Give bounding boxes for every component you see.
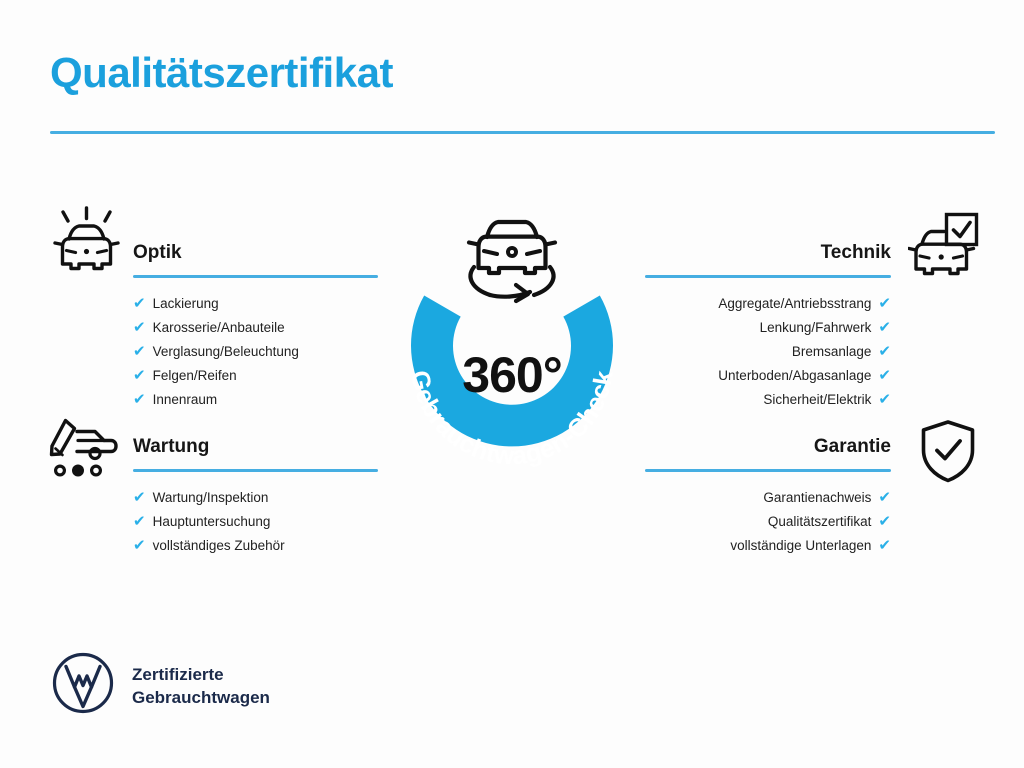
checklist-wartung: ✔ Wartung/Inspektion ✔ Hauptuntersuchung… bbox=[133, 486, 378, 558]
list-item: vollständige Unterlagen ✔ bbox=[645, 534, 891, 558]
list-item-label: Innenraum bbox=[153, 388, 218, 412]
section-garantie: Garantie Garantienachweis ✔ Qualitätszer… bbox=[645, 434, 891, 558]
check-icon: ✔ bbox=[133, 534, 146, 558]
list-item-label: Unterboden/Abgasanlage bbox=[718, 364, 871, 388]
title-divider bbox=[50, 131, 995, 134]
check-icon: ✔ bbox=[133, 388, 146, 412]
check-icon: ✔ bbox=[133, 510, 146, 534]
checklist-technik: Aggregate/Antriebsstrang ✔ Lenkung/Fahrw… bbox=[645, 292, 891, 412]
list-item: ✔ Innenraum bbox=[133, 388, 378, 412]
section-optik: Optik ✔ Lackierung ✔ Karosserie/Anbautei… bbox=[133, 240, 378, 412]
check-icon: ✔ bbox=[878, 486, 891, 510]
list-item: Garantienachweis ✔ bbox=[645, 486, 891, 510]
section-header: Technik bbox=[645, 240, 891, 278]
list-item-label: Wartung/Inspektion bbox=[153, 486, 269, 510]
car-front-shine-icon bbox=[50, 205, 124, 282]
pen-car-service-icon bbox=[48, 415, 122, 486]
list-item-label: vollständige Unterlagen bbox=[730, 534, 871, 558]
list-item-label: Lenkung/Fahrwerk bbox=[760, 316, 872, 340]
section-title-garantie: Garantie bbox=[645, 434, 891, 460]
list-item: ✔ Lackierung bbox=[133, 292, 378, 316]
list-item-label: Lackierung bbox=[153, 292, 219, 316]
check-icon: ✔ bbox=[878, 292, 891, 316]
list-item-label: Verglasung/Beleuchtung bbox=[153, 340, 299, 364]
footer-line-2: Gebrauchtwagen bbox=[132, 686, 270, 709]
volkswagen-logo bbox=[52, 652, 114, 719]
certificate-page: Qualitätszertifikat Optik bbox=[0, 0, 1024, 768]
car-front-checkbox-icon bbox=[908, 211, 980, 284]
badge-360-gebrauchtwagen-check: Gebrauchtwagen-Check 360° bbox=[378, 205, 646, 485]
check-icon: ✔ bbox=[133, 340, 146, 364]
list-item-label: Hauptuntersuchung bbox=[153, 510, 271, 534]
check-icon: ✔ bbox=[878, 388, 891, 412]
section-divider bbox=[645, 469, 891, 472]
check-icon: ✔ bbox=[878, 340, 891, 364]
check-icon: ✔ bbox=[878, 364, 891, 388]
car-rotate-icon bbox=[469, 222, 555, 301]
section-header: Garantie bbox=[645, 434, 891, 472]
footer-text: Zertifizierte Gebrauchtwagen bbox=[132, 663, 270, 709]
list-item: Aggregate/Antriebsstrang ✔ bbox=[645, 292, 891, 316]
check-icon: ✔ bbox=[878, 534, 891, 558]
list-item-label: Qualitätszertifikat bbox=[768, 510, 872, 534]
list-item: Qualitätszertifikat ✔ bbox=[645, 510, 891, 534]
section-divider bbox=[133, 469, 378, 472]
list-item: ✔ Wartung/Inspektion bbox=[133, 486, 378, 510]
section-technik: Technik Aggregate/Antriebsstrang ✔ Lenku… bbox=[645, 240, 891, 412]
checklist-garantie: Garantienachweis ✔ Qualitätszertifikat ✔… bbox=[645, 486, 891, 558]
badge-value: 360° bbox=[378, 346, 646, 404]
page-title: Qualitätszertifikat bbox=[50, 50, 393, 96]
check-icon: ✔ bbox=[878, 316, 891, 340]
list-item: ✔ Verglasung/Beleuchtung bbox=[133, 340, 378, 364]
check-icon: ✔ bbox=[133, 486, 146, 510]
section-title-wartung: Wartung bbox=[133, 434, 378, 460]
list-item-label: Felgen/Reifen bbox=[153, 364, 237, 388]
list-item: ✔ Karosserie/Anbauteile bbox=[133, 316, 378, 340]
check-icon: ✔ bbox=[878, 510, 891, 534]
list-item: ✔ Felgen/Reifen bbox=[133, 364, 378, 388]
list-item: ✔ Hauptuntersuchung bbox=[133, 510, 378, 534]
section-divider bbox=[133, 275, 378, 278]
check-icon: ✔ bbox=[133, 364, 146, 388]
list-item: Lenkung/Fahrwerk ✔ bbox=[645, 316, 891, 340]
checklist-optik: ✔ Lackierung ✔ Karosserie/Anbauteile ✔ V… bbox=[133, 292, 378, 412]
section-title-optik: Optik bbox=[133, 240, 378, 266]
section-divider bbox=[645, 275, 891, 278]
footer-brand: Zertifizierte Gebrauchtwagen bbox=[52, 652, 270, 719]
footer-line-1: Zertifizierte bbox=[132, 663, 270, 686]
section-title-technik: Technik bbox=[645, 240, 891, 266]
list-item-label: vollständiges Zubehör bbox=[153, 534, 285, 558]
list-item: ✔ vollständiges Zubehör bbox=[133, 534, 378, 558]
section-header: Optik bbox=[133, 240, 378, 278]
list-item: Sicherheit/Elektrik ✔ bbox=[645, 388, 891, 412]
section-header: Wartung bbox=[133, 434, 378, 472]
check-icon: ✔ bbox=[133, 316, 146, 340]
list-item-label: Aggregate/Antriebsstrang bbox=[718, 292, 871, 316]
list-item: Bremsanlage ✔ bbox=[645, 340, 891, 364]
list-item: Unterboden/Abgasanlage ✔ bbox=[645, 364, 891, 388]
check-icon: ✔ bbox=[133, 292, 146, 316]
shield-check-icon bbox=[919, 419, 977, 488]
section-wartung: Wartung ✔ Wartung/Inspektion ✔ Hauptunte… bbox=[133, 434, 378, 558]
list-item-label: Karosserie/Anbauteile bbox=[153, 316, 285, 340]
list-item-label: Garantienachweis bbox=[763, 486, 871, 510]
list-item-label: Sicherheit/Elektrik bbox=[763, 388, 871, 412]
list-item-label: Bremsanlage bbox=[792, 340, 872, 364]
